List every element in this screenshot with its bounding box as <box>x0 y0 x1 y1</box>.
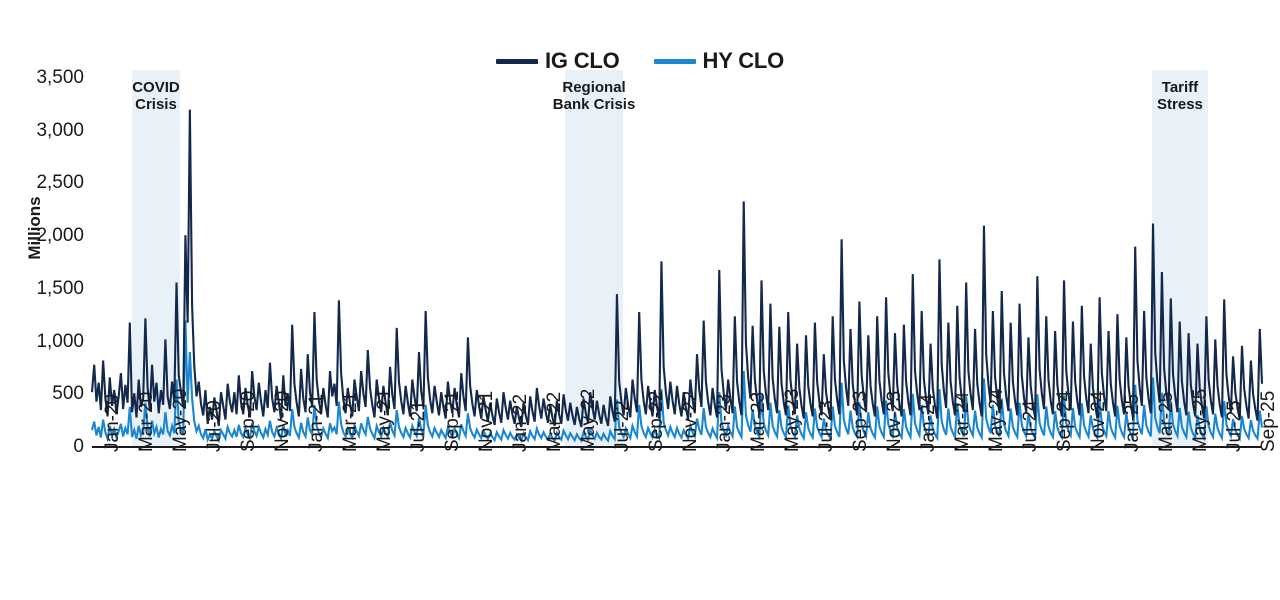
y-axis-tick-label: 1,000 <box>8 332 84 351</box>
x-axis-tick-label: May-22 <box>579 389 598 452</box>
x-axis-tick-label: Sep-20 <box>239 391 258 452</box>
x-axis-tick-label: Mar-20 <box>137 392 156 452</box>
x-axis-ticks: Jan-20Mar-20May-20Jul-20Sep-20Nov-20Jan-… <box>92 452 1262 592</box>
x-axis-tick-label: Jan-21 <box>307 394 326 452</box>
x-axis-tick-label: Nov-24 <box>1089 391 1108 452</box>
x-axis-tick-label: Nov-22 <box>681 391 700 452</box>
x-axis-tick-label: Nov-23 <box>885 391 904 452</box>
y-axis-tick-label: 0 <box>8 437 84 456</box>
legend-item-hy-clo: HY CLO <box>654 50 785 72</box>
x-axis-tick-label: Jan-24 <box>919 394 938 452</box>
x-axis-tick-label: Sep-23 <box>851 391 870 452</box>
x-axis-tick-label: Mar-24 <box>953 392 972 452</box>
x-axis-tick-label: May-20 <box>171 389 190 452</box>
x-axis-tick-label: Jul-24 <box>1021 400 1040 452</box>
x-axis-line <box>92 446 1262 448</box>
plot-area <box>92 78 1262 447</box>
x-axis-tick-label: Jul-21 <box>409 400 428 452</box>
series-canvas <box>92 78 1262 447</box>
legend-label-ig-clo: IG CLO <box>545 50 620 72</box>
legend-swatch-hy-clo <box>654 59 696 64</box>
x-axis-tick-label: Jan-25 <box>1123 394 1142 452</box>
x-axis-tick-label: Mar-25 <box>1157 392 1176 452</box>
x-axis-tick-label: Mar-23 <box>749 392 768 452</box>
x-axis-tick-label: Jul-22 <box>613 400 632 452</box>
x-axis-tick-label: Jan-23 <box>715 394 734 452</box>
x-axis-tick-label: Sep-24 <box>1055 391 1074 452</box>
x-axis-tick-label: Sep-22 <box>647 391 666 452</box>
legend-label-hy-clo: HY CLO <box>703 50 785 72</box>
legend-item-ig-clo: IG CLO <box>496 50 620 72</box>
series-line-hy-clo <box>92 320 1262 440</box>
x-axis-tick-label: May-25 <box>1191 389 1210 452</box>
x-axis-tick-label: May-23 <box>783 389 802 452</box>
x-axis-tick-label: Jul-25 <box>1225 400 1244 452</box>
series-line-ig-clo <box>92 110 1262 427</box>
y-axis-ticks: 05001,0001,5002,0002,5003,0003,500 <box>0 0 84 600</box>
x-axis-tick-label: Nov-21 <box>477 391 496 452</box>
x-axis-tick-label: Jul-20 <box>205 400 224 452</box>
y-axis-tick-label: 2,500 <box>8 173 84 192</box>
x-axis-tick-label: May-24 <box>987 389 1006 452</box>
x-axis-tick-label: Jan-22 <box>511 394 530 452</box>
x-axis-tick-label: Jan-20 <box>103 394 122 452</box>
x-axis-tick-label: May-21 <box>375 389 394 452</box>
y-axis-tick-label: 3,000 <box>8 121 84 140</box>
y-axis-tick-label: 3,500 <box>8 68 84 87</box>
legend-swatch-ig-clo <box>496 59 538 64</box>
chart-legend: IG CLO HY CLO <box>0 46 1280 76</box>
x-axis-tick-label: Jul-23 <box>817 400 836 452</box>
x-axis-tick-label: Sep-25 <box>1259 391 1278 452</box>
y-axis-tick-label: 2,000 <box>8 226 84 245</box>
chart-container: IG CLO HY CLO Millions 05001,0001,5002,0… <box>0 0 1280 600</box>
x-axis-tick-label: Nov-20 <box>273 391 292 452</box>
x-axis-tick-label: Mar-21 <box>341 392 360 452</box>
y-axis-tick-label: 500 <box>8 384 84 403</box>
x-axis-tick-label: Sep-21 <box>443 391 462 452</box>
y-axis-tick-label: 1,500 <box>8 279 84 298</box>
x-axis-tick-label: Mar-22 <box>545 392 564 452</box>
